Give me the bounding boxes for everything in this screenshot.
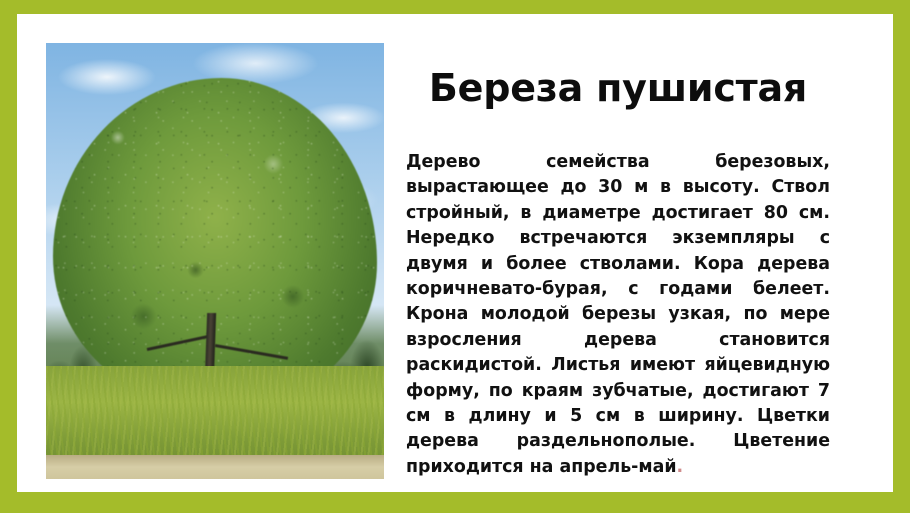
slide-canvas: Береза пушистая Дерево семейства березов… bbox=[0, 0, 910, 513]
slide-title: Береза пушистая bbox=[406, 68, 830, 110]
slide-body-paragraph: Дерево семейства березовых, вырастающее … bbox=[406, 152, 830, 477]
frame-band-top bbox=[0, 0, 910, 14]
birch-tree-photo bbox=[46, 43, 384, 479]
frame-band-right bbox=[893, 0, 910, 513]
frame-band-left bbox=[0, 0, 17, 513]
slide-body-text: Дерево семейства березовых, вырастающее … bbox=[406, 150, 830, 480]
photo-sand-path bbox=[46, 455, 384, 479]
frame-band-bottom bbox=[0, 492, 910, 513]
slide-body-end-punctuation: . bbox=[677, 457, 684, 477]
